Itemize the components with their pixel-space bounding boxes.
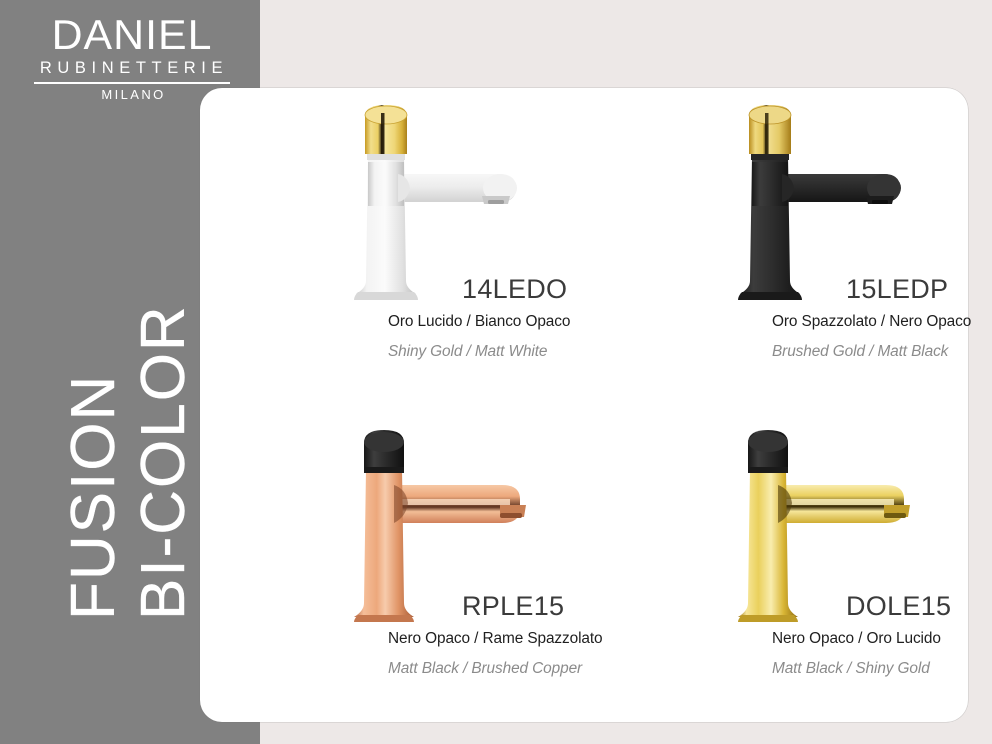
product-desc-it: Oro Lucido / Bianco Opaco <box>388 313 570 331</box>
product-grid: 14LEDO Oro Lucido / Bianco Opaco Shiny G… <box>200 88 968 722</box>
product-desc-en: Shiny Gold / Matt White <box>388 343 547 361</box>
product-desc-en: Matt Black / Brushed Copper <box>388 660 582 678</box>
catalog-page: DANIEL RUBINETTERIE MILANO FUSION BI-COL… <box>0 0 992 744</box>
product-desc-en: Brushed Gold / Matt Black <box>772 343 948 361</box>
collection-title-bicolor: BI-COLOR <box>128 304 199 620</box>
product-item[interactable]: RPLE15 Nero Opaco / Rame Spazzolato Matt… <box>200 405 584 722</box>
product-desc-it: Nero Opaco / Rame Spazzolato <box>388 630 603 648</box>
collection-title-fusion: FUSION <box>58 374 129 620</box>
product-item[interactable]: DOLE15 Nero Opaco / Oro Lucido Matt Blac… <box>584 405 968 722</box>
product-desc-en: Matt Black / Shiny Gold <box>772 660 930 678</box>
product-desc-it: Oro Spazzolato / Nero Opaco <box>772 313 971 331</box>
brand-tagline: RUBINETTERIE <box>34 58 230 78</box>
product-code: DOLE15 <box>846 591 951 622</box>
product-code: 14LEDO <box>462 274 567 305</box>
product-card: 14LEDO Oro Lucido / Bianco Opaco Shiny G… <box>200 88 968 722</box>
product-desc-it: Nero Opaco / Oro Lucido <box>772 630 941 648</box>
logo-divider <box>34 82 230 84</box>
brand-name: DANIEL <box>32 14 232 56</box>
product-code: 15LEDP <box>846 274 948 305</box>
product-code: RPLE15 <box>462 591 564 622</box>
product-item[interactable]: 15LEDP Oro Spazzolato / Nero Opaco Brush… <box>584 88 968 405</box>
product-item[interactable]: 14LEDO Oro Lucido / Bianco Opaco Shiny G… <box>200 88 584 405</box>
